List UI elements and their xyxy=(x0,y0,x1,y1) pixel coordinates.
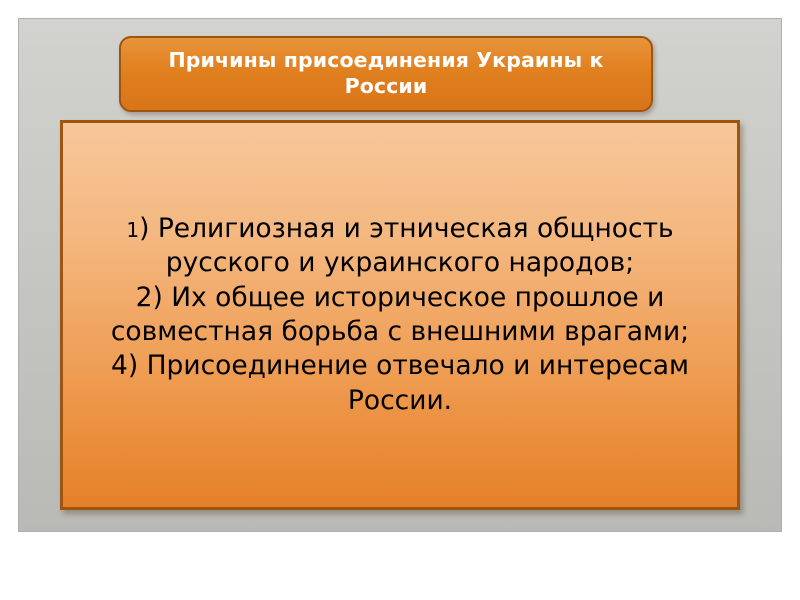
page-title: Причины присоединения Украины к России xyxy=(121,48,651,99)
content-line-1-rest: ) Религиозная и этническая общность русс… xyxy=(139,213,674,278)
title-box: Причины присоединения Украины к России xyxy=(119,36,653,112)
content-box: 1) Религиозная и этническая общность рус… xyxy=(60,120,740,510)
list-marker-1: 1 xyxy=(126,218,139,242)
content-line-1: 1) Религиозная и этническая общность рус… xyxy=(89,212,711,281)
slide: Причины присоединения Украины к России 1… xyxy=(0,0,800,600)
content-line-3: 4) Присоединение отвечало и интересам Ро… xyxy=(89,349,711,418)
content-text: 1) Религиозная и этническая общность рус… xyxy=(63,212,737,419)
content-line-2: 2) Их общее историческое прошлое и совме… xyxy=(89,281,711,350)
